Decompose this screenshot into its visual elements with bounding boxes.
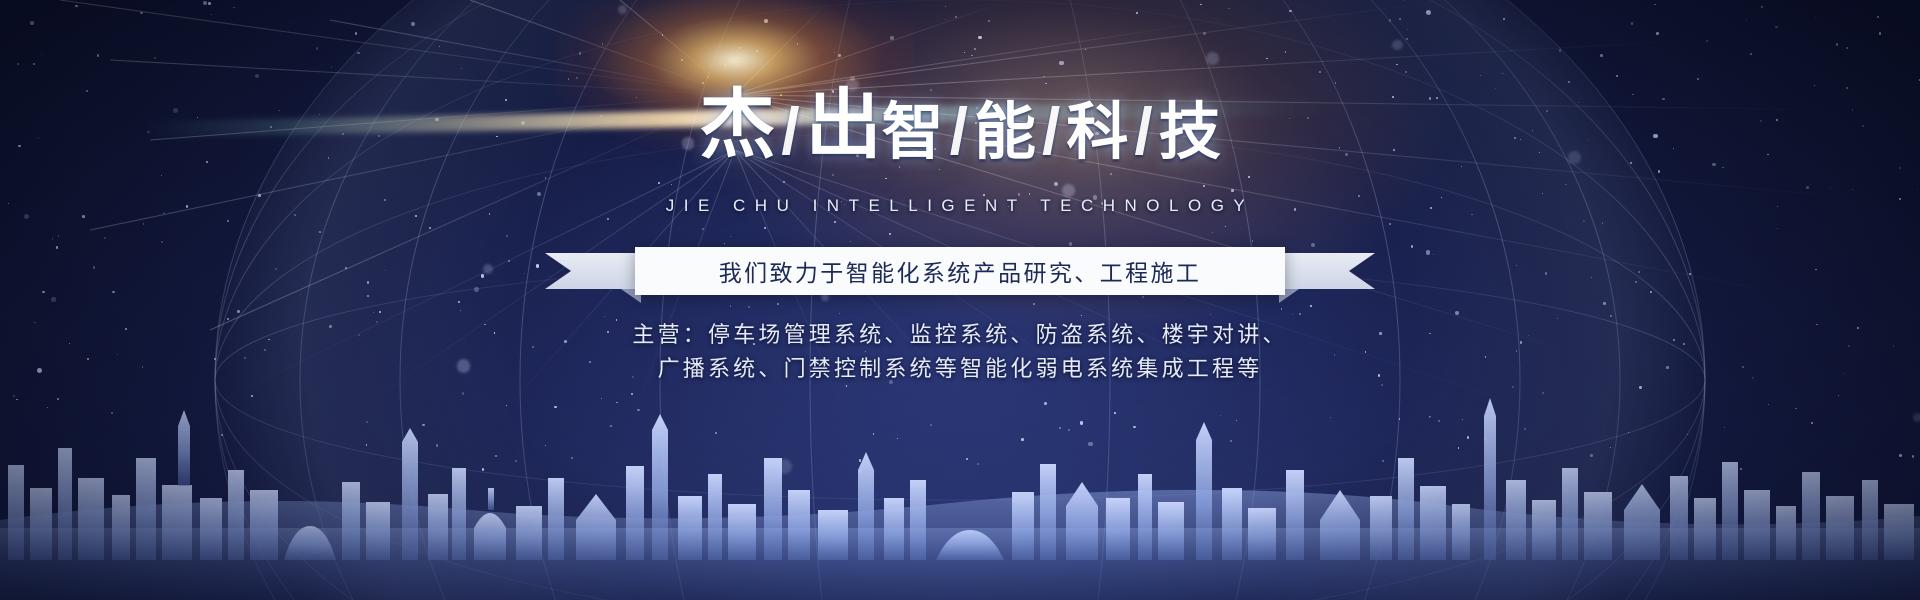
title-segment-9: 技 [1159,102,1221,164]
ribbon-body: 我们致力于智能化系统产品研究、工程施工 [635,247,1285,295]
banner-content: 杰/出智/能/科/技 JIE CHU INTELLIGENT TECHNOLOG… [0,0,1920,600]
main-title: 杰/出智/能/科/技 [699,88,1220,164]
description-line-1: 主营：停车场管理系统、监控系统、防盗系统、楼宇对讲、 [632,318,1287,352]
title-segment-3: 智 [882,102,944,164]
ribbon-tail-right [1279,253,1375,289]
title-segment-4: / [944,98,974,164]
title-segment-0: 杰 [699,88,775,164]
title-segment-5: 能 [974,102,1036,164]
title-segment-6: / [1036,98,1066,164]
title-segment-7: 科 [1066,102,1128,164]
title-segment-1: / [775,98,805,164]
english-subtitle: JIE CHU INTELLIGENT TECHNOLOGY [666,196,1255,216]
slogan-ribbon: 我们致力于智能化系统产品研究、工程施工 [635,247,1285,295]
title-segment-8: / [1128,98,1158,164]
hero-banner: 杰/出智/能/科/技 JIE CHU INTELLIGENT TECHNOLOG… [0,0,1920,600]
description-block: 主营：停车场管理系统、监控系统、防盗系统、楼宇对讲、 广播系统、门禁控制系统等智… [632,318,1287,386]
description-line-2: 广播系统、门禁控制系统等智能化弱电系统集成工程等 [632,352,1287,386]
ribbon-tail-left [545,253,641,289]
ribbon-slogan-text: 我们致力于智能化系统产品研究、工程施工 [719,254,1202,288]
title-segment-2: 出 [806,88,882,164]
